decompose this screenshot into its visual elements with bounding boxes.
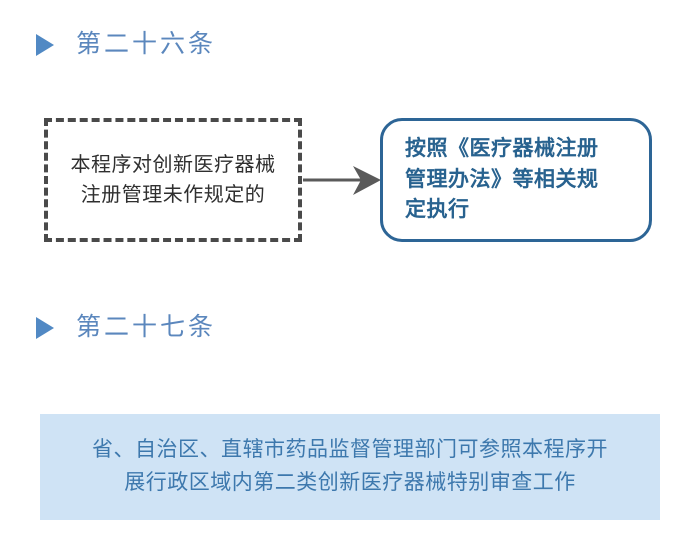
result-box: 按照《医疗器械注册 管理办法》等相关规 定执行 bbox=[380, 118, 652, 242]
result-box-text: 按照《医疗器械注册 管理办法》等相关规 定执行 bbox=[383, 134, 615, 225]
arrow-right-icon bbox=[303, 162, 383, 200]
infographic-page: 第二十六条 本程序对创新医疗器械 注册管理未作规定的 按照《医疗器械注册 管理办… bbox=[0, 0, 700, 560]
triangle-right-icon bbox=[36, 34, 54, 56]
triangle-right-icon bbox=[36, 317, 54, 339]
dashed-condition-box: 本程序对创新医疗器械 注册管理未作规定的 bbox=[44, 118, 302, 242]
info-banner: 省、自治区、直辖市药品监督管理部门可参照本程序开 展行政区域内第二类创新医疗器械… bbox=[40, 414, 660, 520]
section-heading-label: 第二十六条 bbox=[76, 32, 216, 57]
info-banner-text: 省、自治区、直辖市药品监督管理部门可参照本程序开 展行政区域内第二类创新医疗器械… bbox=[76, 434, 624, 499]
section-heading-label: 第二十七条 bbox=[76, 315, 216, 340]
section-heading-article-26: 第二十六条 bbox=[36, 32, 216, 57]
section-heading-article-27: 第二十七条 bbox=[36, 315, 216, 340]
dashed-condition-text: 本程序对创新医疗器械 注册管理未作规定的 bbox=[65, 150, 282, 210]
